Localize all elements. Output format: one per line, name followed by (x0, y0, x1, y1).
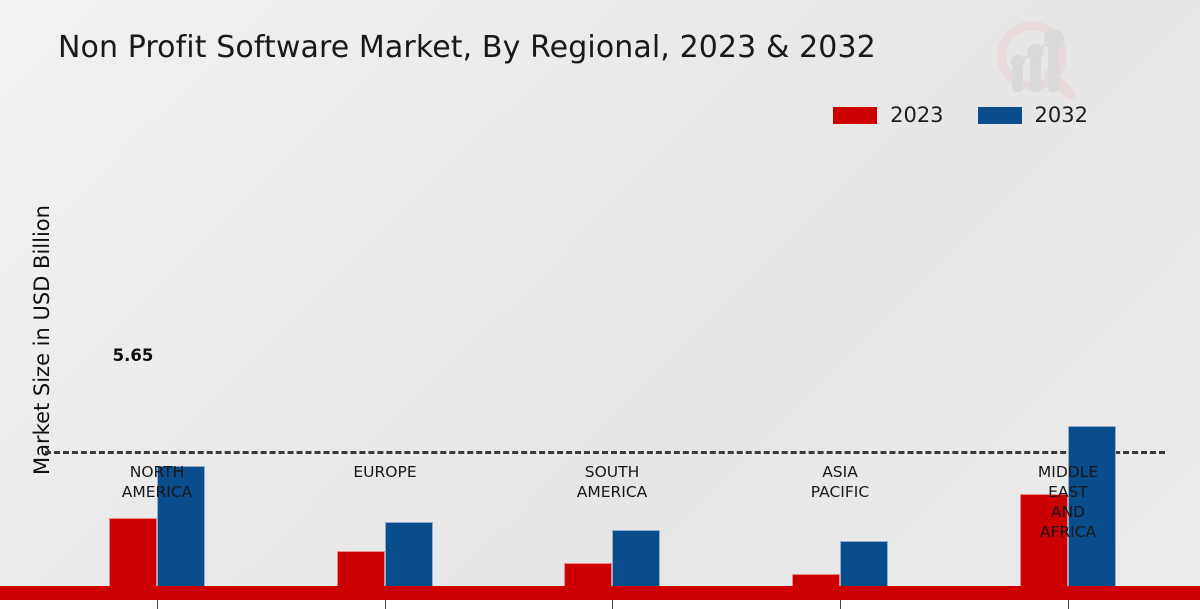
x-axis-baseline (45, 451, 1165, 454)
x-axis-tick (157, 600, 158, 609)
x-axis-tick (1068, 600, 1069, 609)
x-axis-category-label: NORTHAMERICA (57, 462, 257, 502)
x-axis-category-label: SOUTHAMERICA (512, 462, 712, 502)
x-axis-tick (385, 600, 386, 609)
plot-area: NORTHAMERICAEUROPESOUTHAMERICAASIAPACIFI… (0, 0, 1200, 600)
x-axis-category-label: ASIAPACIFIC (740, 462, 940, 502)
bar-value-label: 5.65 (113, 346, 154, 365)
x-axis-category-label: MIDDLEEASTANDAFRICA (968, 462, 1168, 542)
x-axis-tick (840, 600, 841, 609)
chart-container: Non Profit Software Market, By Regional,… (0, 0, 1200, 600)
x-axis-category-label: EUROPE (285, 462, 485, 482)
footer-accent-band (0, 586, 1200, 600)
x-axis-tick (612, 600, 613, 609)
